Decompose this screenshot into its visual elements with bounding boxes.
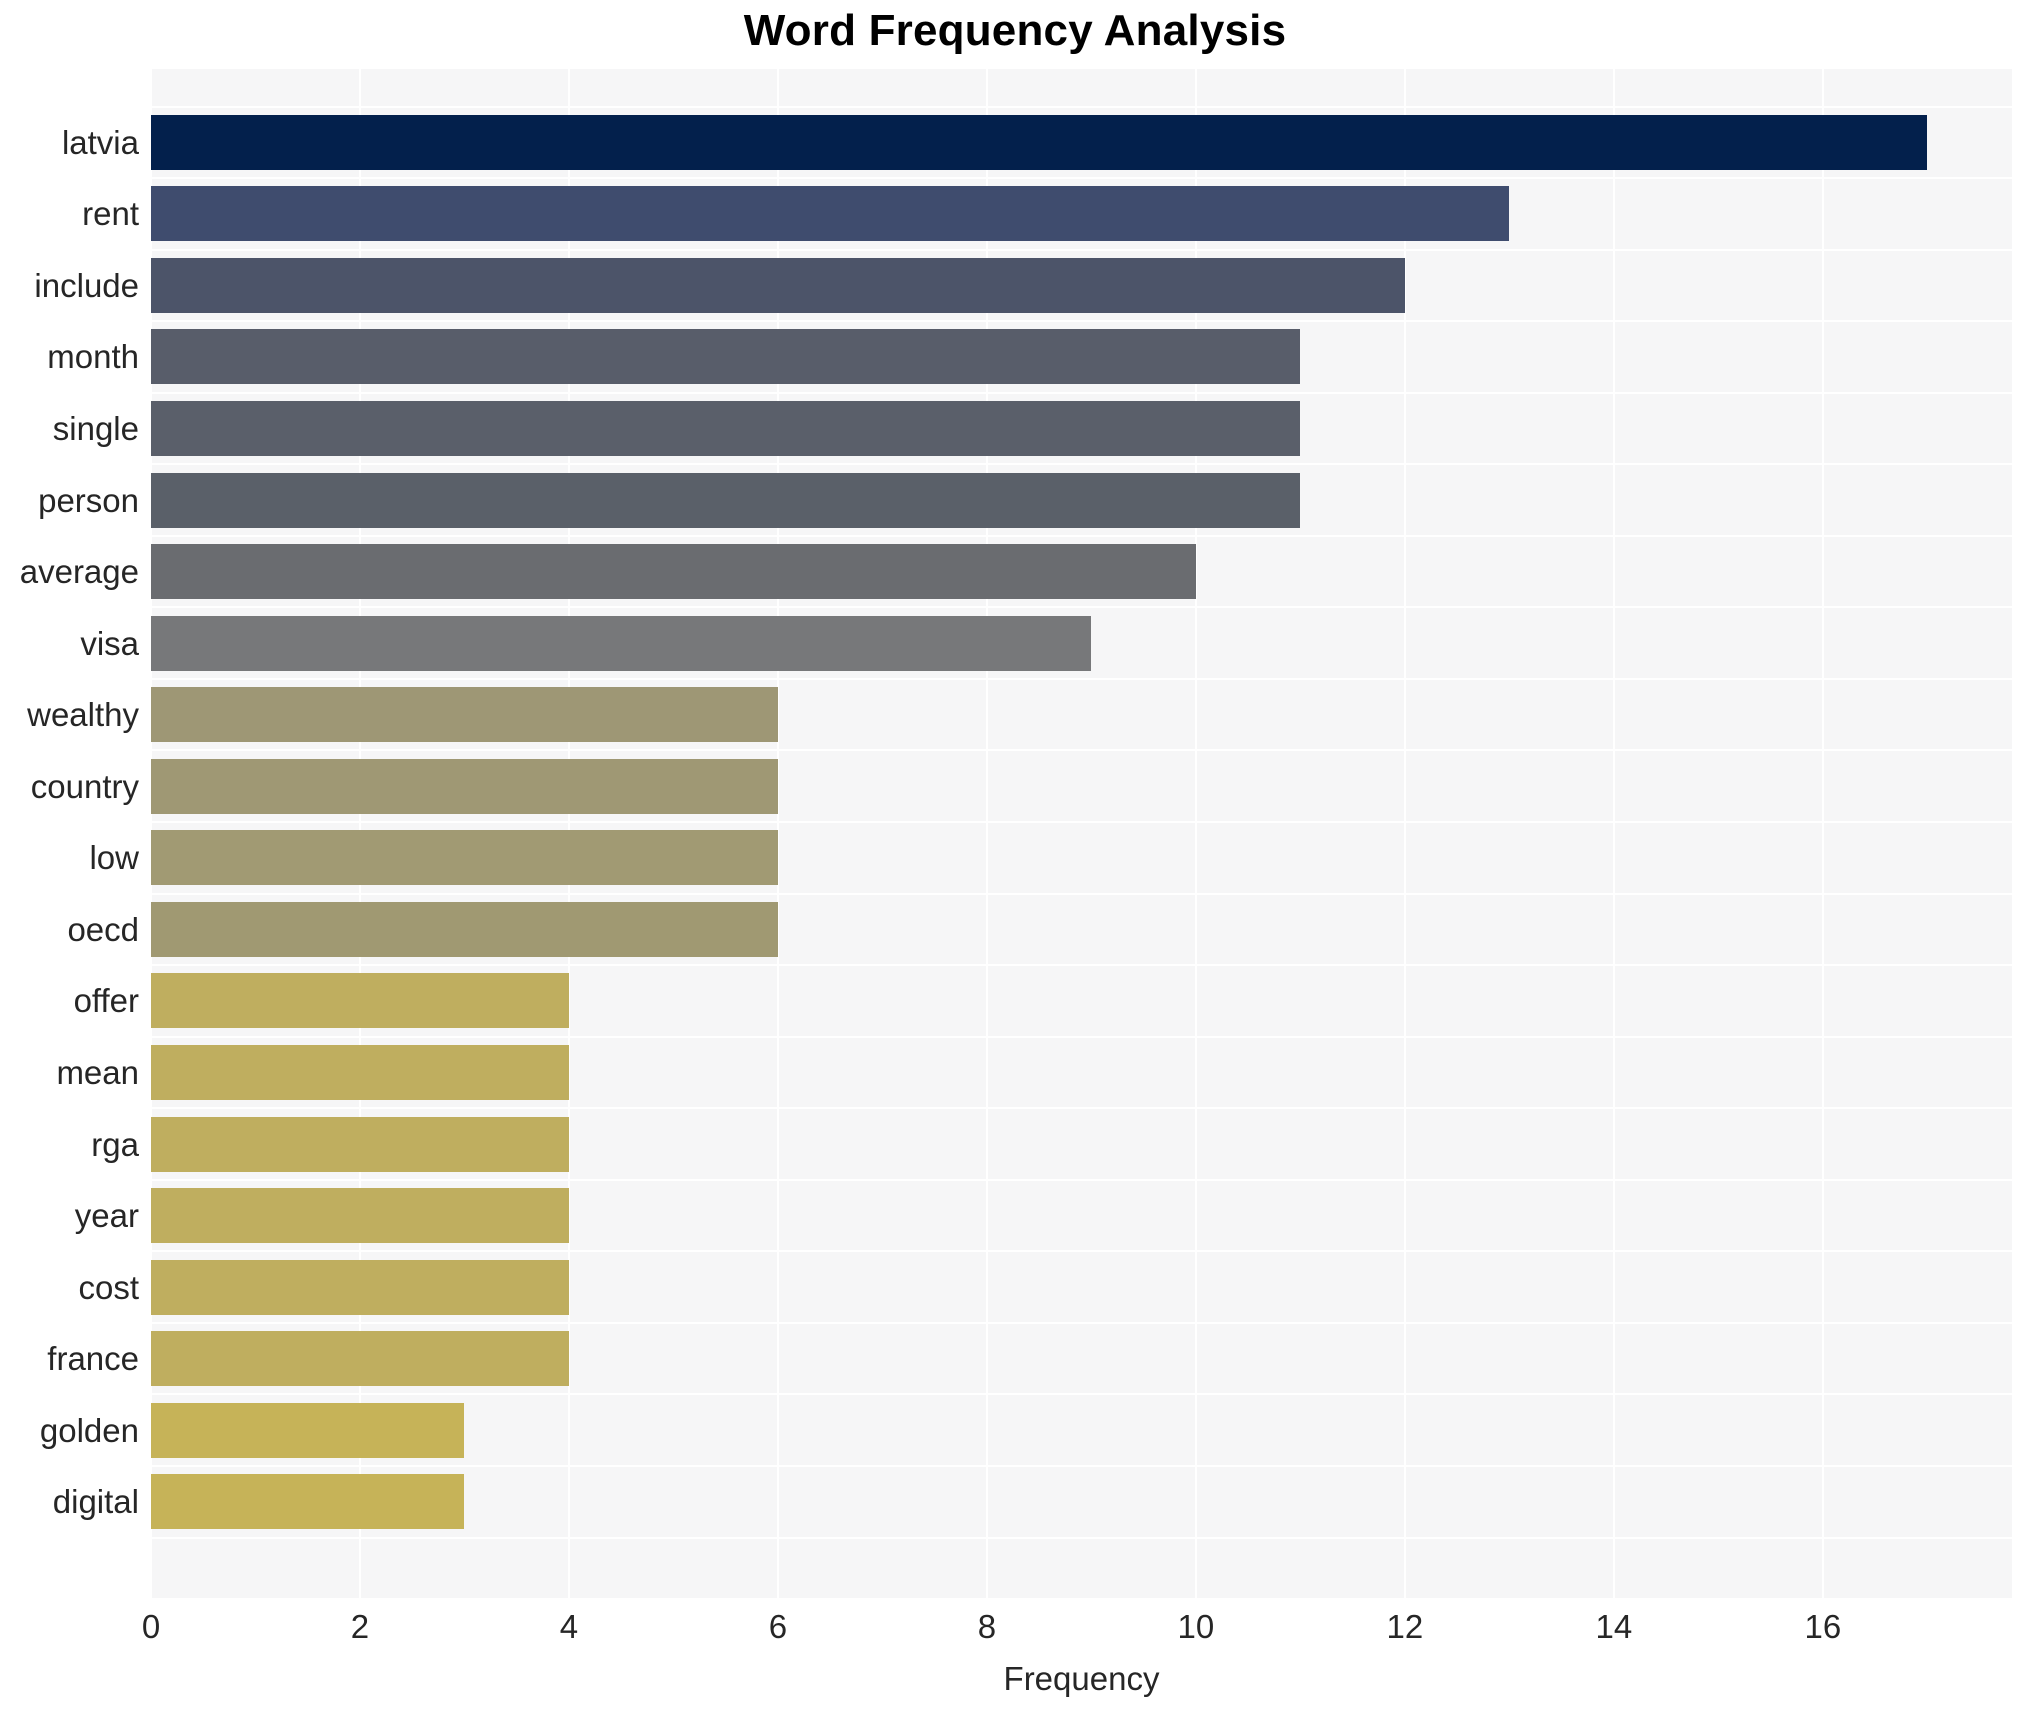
- bar[interactable]: [151, 186, 1509, 241]
- gridline-horizontal: [151, 606, 2012, 608]
- x-axis-tick-label: 8: [978, 1608, 996, 1646]
- x-axis-tick-label: 0: [142, 1608, 160, 1646]
- bar[interactable]: [151, 759, 778, 814]
- y-axis-tick-label: wealthy: [0, 687, 139, 742]
- gridline-horizontal: [151, 535, 2012, 537]
- gridline-horizontal: [151, 1107, 2012, 1109]
- y-axis-tick-label: latvia: [0, 115, 139, 170]
- bar[interactable]: [151, 473, 1300, 528]
- y-axis-tick-label: offer: [0, 973, 139, 1028]
- y-axis-tick-label: visa: [0, 616, 139, 671]
- bar[interactable]: [151, 401, 1300, 456]
- x-axis-tick-label: 6: [769, 1608, 787, 1646]
- y-axis-tick-label: person: [0, 473, 139, 528]
- chart-title: Word Frequency Analysis: [0, 6, 2030, 56]
- gridline-vertical: [1822, 69, 1824, 1598]
- gridline-horizontal: [151, 463, 2012, 465]
- bar[interactable]: [151, 902, 778, 957]
- gridline-horizontal: [151, 1465, 2012, 1467]
- gridline-horizontal: [151, 1537, 2012, 1539]
- bar[interactable]: [151, 973, 569, 1028]
- y-axis-tick-label: france: [0, 1331, 139, 1386]
- y-axis-tick-label: year: [0, 1188, 139, 1243]
- y-axis-tick-label: low: [0, 830, 139, 885]
- gridline-horizontal: [151, 1250, 2012, 1252]
- bar[interactable]: [151, 1188, 569, 1243]
- gridline-horizontal: [151, 320, 2012, 322]
- y-axis-tick-label: mean: [0, 1045, 139, 1100]
- x-axis-title: Frequency: [151, 1660, 2012, 1698]
- bar[interactable]: [151, 329, 1300, 384]
- bar[interactable]: [151, 616, 1091, 671]
- gridline-horizontal: [151, 749, 2012, 751]
- x-axis-tick-label: 4: [560, 1608, 578, 1646]
- bar[interactable]: [151, 115, 1927, 170]
- gridline-horizontal: [151, 1179, 2012, 1181]
- gridline-horizontal: [151, 177, 2012, 179]
- y-axis-tick-label: average: [0, 544, 139, 599]
- gridline-horizontal: [151, 1036, 2012, 1038]
- bar[interactable]: [151, 1331, 569, 1386]
- gridline-horizontal: [151, 964, 2012, 966]
- gridline-vertical: [1613, 69, 1615, 1598]
- x-axis-tick-label: 14: [1596, 1608, 1633, 1646]
- gridline-horizontal: [151, 821, 2012, 823]
- x-axis-tick-label: 12: [1387, 1608, 1424, 1646]
- chart-figure: Word Frequency Analysis latviarentinclud…: [0, 0, 2030, 1710]
- x-axis-tick-label: 2: [351, 1608, 369, 1646]
- gridline-horizontal: [151, 249, 2012, 251]
- gridline-horizontal: [151, 893, 2012, 895]
- y-axis-tick-label: single: [0, 401, 139, 456]
- bar[interactable]: [151, 687, 778, 742]
- gridline-horizontal: [151, 106, 2012, 108]
- y-axis-tick-label: digital: [0, 1474, 139, 1529]
- bar[interactable]: [151, 258, 1405, 313]
- bar[interactable]: [151, 830, 778, 885]
- gridline-horizontal: [151, 678, 2012, 680]
- x-axis-tick-label: 10: [1178, 1608, 1215, 1646]
- bar[interactable]: [151, 1045, 569, 1100]
- y-axis-tick-label: month: [0, 329, 139, 384]
- gridline-horizontal: [151, 1322, 2012, 1324]
- y-axis-tick-label: cost: [0, 1260, 139, 1315]
- y-axis-tick-label: rga: [0, 1117, 139, 1172]
- plot-area: [151, 69, 2012, 1598]
- y-axis-tick-label: include: [0, 258, 139, 313]
- y-axis-tick-label: oecd: [0, 902, 139, 957]
- y-axis-tick-label: rent: [0, 186, 139, 241]
- x-axis-tick-label: 16: [1805, 1608, 1842, 1646]
- bar[interactable]: [151, 1260, 569, 1315]
- y-axis-tick-label: golden: [0, 1403, 139, 1458]
- bar[interactable]: [151, 1403, 464, 1458]
- bar[interactable]: [151, 1117, 569, 1172]
- gridline-horizontal: [151, 392, 2012, 394]
- gridline-horizontal: [151, 1393, 2012, 1395]
- bar[interactable]: [151, 544, 1196, 599]
- bar[interactable]: [151, 1474, 464, 1529]
- y-axis-tick-label: country: [0, 759, 139, 814]
